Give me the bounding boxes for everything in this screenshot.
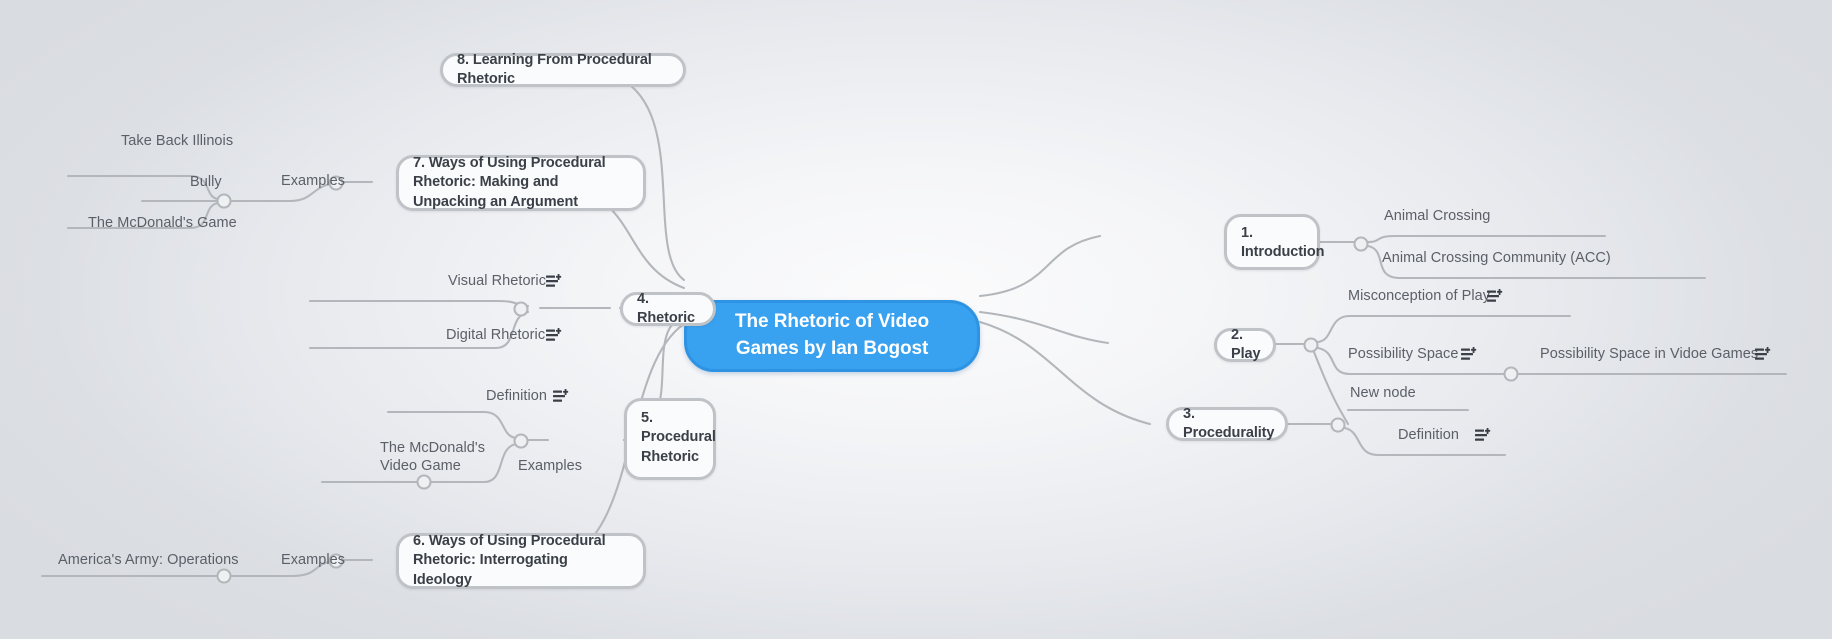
leaf-mcdonalds-game[interactable]: The McDonald's Game xyxy=(88,215,237,233)
add-note-icon[interactable] xyxy=(553,389,570,404)
node-introduction[interactable]: 1. Introduction xyxy=(1224,214,1320,270)
node-ways-interrogating-ideology[interactable]: 6. Ways of Using Procedural Rhetoric: In… xyxy=(396,533,646,589)
add-note-icon[interactable] xyxy=(1755,347,1772,362)
leaf-mcdonalds-video-game[interactable]: The McDonald's Video Game xyxy=(380,440,485,475)
leaf-new-node[interactable]: New node xyxy=(1350,385,1416,403)
leaf-misconception-of-play[interactable]: Misconception of Play xyxy=(1348,288,1490,306)
node-procedural-rhetoric-label: 5. Procedural Rhetoric xyxy=(641,409,716,467)
junction-dot xyxy=(218,570,231,583)
node-play[interactable]: 2. Play xyxy=(1214,328,1276,362)
leaf-examples-argument[interactable]: Examples xyxy=(281,173,345,191)
node-ways-interrogating-ideology-label: 6. Ways of Using Procedural Rhetoric: In… xyxy=(413,532,629,590)
junction-dot xyxy=(515,435,528,448)
mindmap-canvas[interactable]: The Rhetoric of Video Games by Ian Bogos… xyxy=(0,0,1832,639)
leaf-bully[interactable]: Bully xyxy=(190,174,222,192)
junction-dot xyxy=(1305,339,1318,352)
add-note-icon[interactable] xyxy=(546,328,563,343)
leaf-americas-army-operations[interactable]: America's Army: Operations xyxy=(58,552,239,570)
add-note-icon[interactable] xyxy=(1475,428,1492,443)
node-rhetoric-label: 4. Rhetoric xyxy=(637,290,699,329)
junction-dot xyxy=(1332,419,1345,432)
leaf-examples-ideology[interactable]: Examples xyxy=(281,552,345,570)
add-note-icon[interactable] xyxy=(1487,289,1504,304)
leaf-definition-procedurality[interactable]: Definition xyxy=(1398,427,1459,445)
leaf-possibility-space[interactable]: Possibility Space xyxy=(1348,346,1458,364)
leaf-visual-rhetoric[interactable]: Visual Rhetoric xyxy=(448,273,546,291)
node-learning-from-procedural-rhetoric-label: 8. Learning From Procedural Rhetoric xyxy=(457,51,669,90)
node-play-label: 2. Play xyxy=(1231,326,1260,365)
node-procedurality-label: 3. Procedurality xyxy=(1183,405,1274,444)
leaf-digital-rhetoric[interactable]: Digital Rhetoric xyxy=(446,327,545,345)
leaf-animal-crossing[interactable]: Animal Crossing xyxy=(1384,208,1490,226)
leaf-definition-procedural-rhetoric[interactable]: Definition xyxy=(486,388,547,406)
root-node-label: The Rhetoric of Video Games by Ian Bogos… xyxy=(705,309,959,362)
leaf-take-back-illinois[interactable]: Take Back Illinois xyxy=(121,133,233,151)
root-node[interactable]: The Rhetoric of Video Games by Ian Bogos… xyxy=(684,300,980,372)
node-procedurality[interactable]: 3. Procedurality xyxy=(1166,407,1288,441)
node-introduction-label: 1. Introduction xyxy=(1241,224,1324,263)
leaf-examples-procedural-rhetoric[interactable]: Examples xyxy=(518,458,582,476)
junction-dot xyxy=(515,303,528,316)
junction-dot xyxy=(418,476,431,489)
junction-dot xyxy=(218,195,231,208)
add-note-icon[interactable] xyxy=(546,274,563,289)
junction-dot xyxy=(1505,368,1518,381)
leaf-possibility-space-in-video-games[interactable]: Possibility Space in Vidoe Games xyxy=(1540,346,1758,364)
node-ways-making-unpacking-argument[interactable]: 7. Ways of Using Procedural Rhetoric: Ma… xyxy=(396,155,646,211)
add-note-icon[interactable] xyxy=(1461,347,1478,362)
node-rhetoric[interactable]: 4. Rhetoric xyxy=(620,292,716,326)
junction-dot xyxy=(1355,238,1368,251)
node-procedural-rhetoric[interactable]: 5. Procedural Rhetoric xyxy=(624,398,716,480)
node-learning-from-procedural-rhetoric[interactable]: 8. Learning From Procedural Rhetoric xyxy=(440,53,686,87)
leaf-animal-crossing-community[interactable]: Animal Crossing Community (ACC) xyxy=(1382,250,1611,268)
node-ways-making-unpacking-argument-label: 7. Ways of Using Procedural Rhetoric: Ma… xyxy=(413,154,629,212)
